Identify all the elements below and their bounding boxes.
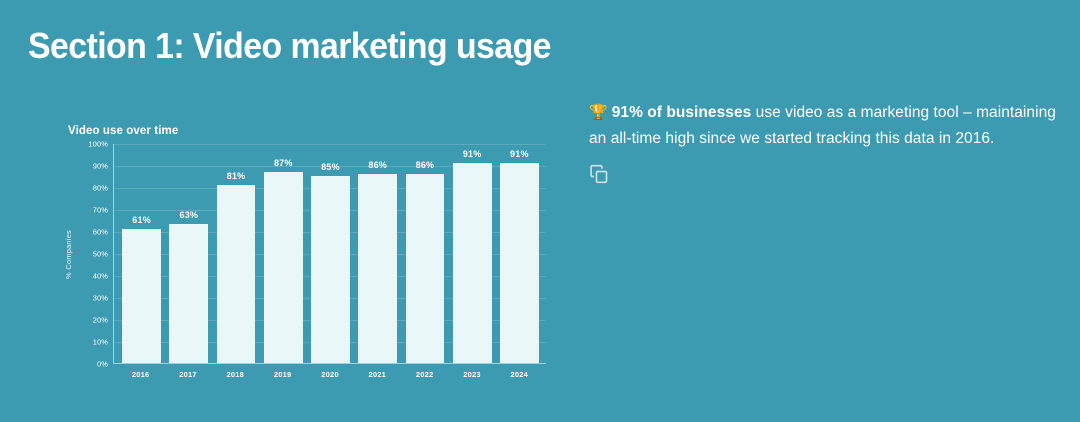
bar (217, 185, 256, 363)
y-axis-ticks: 0%10%20%30%40%50%60%70%80%90%100% (74, 144, 108, 364)
bar (264, 172, 303, 363)
x-axis-tick-label: 2019 (259, 366, 306, 379)
chart-title: Video use over time (68, 124, 550, 138)
y-axis-tick-label: 80% (93, 184, 108, 193)
bar-value-label: 91% (496, 149, 543, 160)
bar-slot: 63% (165, 144, 212, 363)
bar-slot: 86% (401, 144, 448, 363)
bar-slot: 86% (354, 144, 401, 363)
x-axis-ticks: 201620172018201920202021202220232024 (114, 366, 546, 379)
bar (122, 229, 161, 363)
bar-slot: 85% (307, 144, 354, 363)
bar-slot: 61% (118, 144, 165, 363)
plot-area: 61%63%81%87%85%86%86%91%91% (113, 144, 546, 364)
bar-value-label: 81% (212, 171, 259, 182)
x-axis-tick-label: 2017 (164, 366, 211, 379)
x-axis-tick-label: 2024 (496, 366, 543, 379)
insight-lead: 91% of businesses (612, 104, 752, 121)
bar-value-label: 63% (165, 210, 212, 221)
bar-value-label: 85% (307, 162, 354, 173)
insight-text: 🏆91% of businesses use video as a market… (589, 100, 1057, 152)
y-axis-tick-label: 20% (93, 316, 108, 325)
bar-slot: 81% (212, 144, 259, 363)
bar (500, 163, 539, 363)
x-axis-tick-label: 2016 (117, 366, 164, 379)
bar-value-label: 87% (260, 158, 307, 169)
y-axis-tick-label: 100% (88, 140, 108, 149)
x-axis-tick-label: 2022 (401, 366, 448, 379)
bar-chart: Video use over time % Companies 0%10%20%… (60, 124, 550, 389)
bar (169, 224, 208, 363)
y-axis-tick-label: 40% (93, 272, 108, 281)
y-axis-title: % Companies (62, 144, 74, 364)
y-axis-tick-label: 70% (93, 206, 108, 215)
bar (358, 174, 397, 363)
y-axis-tick-label: 50% (93, 250, 108, 259)
bar-value-label: 91% (449, 149, 496, 160)
y-axis-tick-label: 30% (93, 294, 108, 303)
x-axis-tick-label: 2021 (354, 366, 401, 379)
page-title: Section 1: Video marketing usage (28, 24, 551, 68)
y-axis-title-label: % Companies (64, 230, 73, 279)
insight-panel: 🏆91% of businesses use video as a market… (589, 100, 1057, 184)
copy-icon[interactable] (589, 164, 609, 184)
chart-plot-wrapper: % Companies 0%10%20%30%40%50%60%70%80%90… (60, 144, 550, 382)
bar-value-label: 86% (401, 160, 448, 171)
bar-value-label: 61% (118, 215, 165, 226)
y-axis-tick-label: 10% (93, 338, 108, 347)
bar (453, 163, 492, 363)
bar (406, 174, 445, 363)
bar-series: 61%63%81%87%85%86%86%91%91% (115, 144, 546, 363)
x-axis-tick-label: 2018 (212, 366, 259, 379)
x-axis-tick-label: 2023 (448, 366, 495, 379)
bar-value-label: 86% (354, 160, 401, 171)
bar-slot: 91% (449, 144, 496, 363)
x-axis-tick-label: 2020 (306, 366, 353, 379)
bar (311, 176, 350, 363)
trophy-icon: 🏆 (589, 104, 608, 121)
y-axis-tick-label: 60% (93, 228, 108, 237)
bar-slot: 91% (496, 144, 543, 363)
y-axis-tick-label: 90% (93, 162, 108, 171)
bar-slot: 87% (260, 144, 307, 363)
y-axis-tick-label: 0% (97, 360, 108, 369)
